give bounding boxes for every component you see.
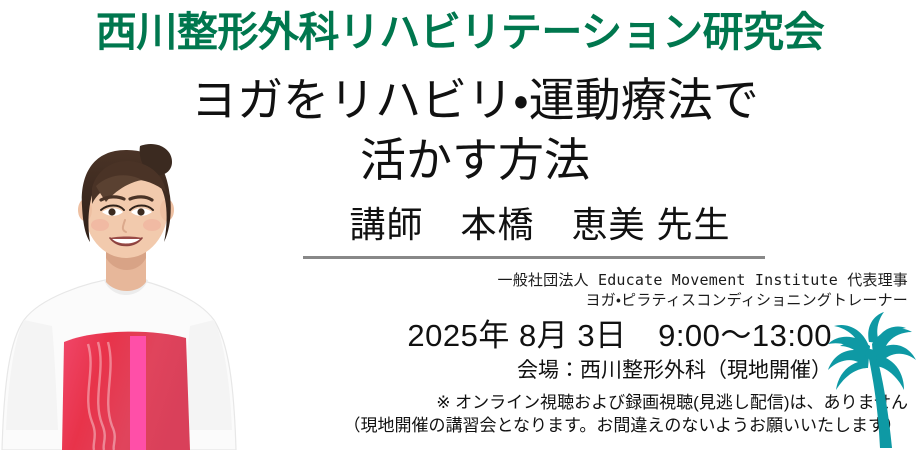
organization-title: 西川整形外科リハビリテーション研究会 <box>0 6 920 58</box>
credential-line-2: ヨガ・ピラティスコンディショニングトレーナー <box>498 290 908 310</box>
credential-line-1: 一般社団法人 Educate Movement Institute 代表理事 <box>498 270 908 290</box>
palm-tree-icon <box>812 312 920 450</box>
event-venue: 会場：西川整形外科（現地開催） <box>517 357 832 385</box>
speaker-credentials: 一般社団法人 Educate Movement Institute 代表理事 ヨ… <box>498 270 908 310</box>
speaker-name: 講師 本橋 恵美 先生 <box>290 202 790 248</box>
event-datetime: 2025年 8月 3日 9:00〜13:00 <box>407 316 832 356</box>
divider-rule <box>303 256 765 259</box>
main-title-line-1: ヨガをリハビリ・運動療法で <box>191 74 759 126</box>
instructor-portrait <box>0 130 260 450</box>
seminar-flyer: 西川整形外科リハビリテーション研究会 ヨガをリハビリ・運動療法で 活かす方法 講… <box>0 0 920 450</box>
